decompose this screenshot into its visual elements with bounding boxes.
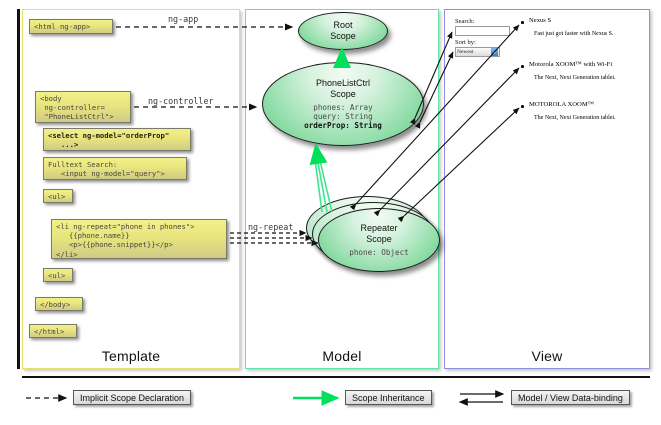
view-phone-snippet: Fast just got faster with Nexus S. bbox=[534, 31, 614, 37]
connector-label-ng-controller: ng-controller bbox=[148, 96, 214, 106]
view-sort-label: Sort by: bbox=[455, 39, 476, 46]
code-box-html: <html ng-app> bbox=[29, 19, 113, 34]
column-label-model: Model bbox=[246, 348, 438, 364]
view-phone-name: MOTOROLA XOOM™ bbox=[529, 101, 594, 108]
code-box-body-close: </body> bbox=[35, 297, 83, 311]
view-phone-snippet: The Next, Next Generation tablet. bbox=[534, 115, 616, 121]
connector-label-ng-repeat: ng-repeat bbox=[248, 222, 293, 232]
left-accent-bar bbox=[17, 9, 20, 369]
code-box-select: <select ng-model="orderProp" ...> bbox=[43, 128, 191, 151]
column-label-view: View bbox=[445, 348, 649, 364]
legend-item-scope-inheritance: Scope Inheritance bbox=[345, 390, 432, 405]
view-search-label: Search: bbox=[455, 18, 475, 25]
scope-phonelistctrl: PhoneListCtrl Scope phones: Array query:… bbox=[262, 62, 424, 146]
legend-item-implicit-scope-declaration: Implicit Scope Declaration bbox=[73, 390, 191, 405]
diagram-canvas: Template Model View <html ng-app> <body … bbox=[0, 0, 661, 425]
scope-root: Root Scope bbox=[298, 12, 388, 50]
scope-phonelistctrl-title: PhoneListCtrl Scope bbox=[316, 78, 370, 100]
view-sort-select[interactable]: Newest ▾ bbox=[455, 47, 500, 57]
list-bullet bbox=[521, 21, 524, 24]
scope-repeater-props: phone: Object bbox=[349, 248, 408, 257]
view-phone-name: Motorola XOOM™ with Wi-Fi bbox=[529, 61, 612, 68]
view-sort-selected-value: Newest bbox=[457, 49, 474, 55]
code-box-body: <body ng-controller= "PhoneListCtrl"> bbox=[35, 91, 131, 123]
scope-props-bold: orderProp: String bbox=[304, 121, 382, 130]
chevron-down-icon: ▾ bbox=[491, 48, 498, 56]
legend-divider bbox=[22, 376, 650, 378]
scope-repeater: Repeater Scope phone: Object bbox=[318, 208, 440, 272]
scope-root-title: Root Scope bbox=[330, 20, 356, 42]
code-box-html-close: </html> bbox=[29, 324, 77, 338]
code-box-fulltext-search: Fulltext Search: <input ng-model="query"… bbox=[43, 157, 187, 180]
list-bullet bbox=[521, 105, 524, 108]
legend-item-model-view-databinding: Model / View Data-binding bbox=[511, 390, 630, 405]
code-box-li-ng-repeat: <li ng-repeat="phone in phones"> {{phone… bbox=[51, 219, 227, 259]
scope-phonelistctrl-props: phones: Array query: String orderProp: S… bbox=[304, 103, 382, 130]
code-box-ul-close: <ul> bbox=[43, 268, 73, 282]
view-search-input[interactable] bbox=[455, 26, 510, 36]
column-label-template: Template bbox=[23, 348, 239, 364]
view-phone-snippet: The Next, Next Generation tablet. bbox=[534, 75, 616, 81]
scope-repeater-title: Repeater Scope bbox=[360, 223, 397, 245]
code-box-ul-open: <ul> bbox=[43, 189, 73, 203]
scope-props-plain: phones: Array query: String bbox=[313, 103, 372, 121]
list-bullet bbox=[521, 65, 524, 68]
connector-label-ng-app: ng-app bbox=[168, 14, 198, 24]
view-phone-name: Nexus S bbox=[529, 17, 551, 24]
